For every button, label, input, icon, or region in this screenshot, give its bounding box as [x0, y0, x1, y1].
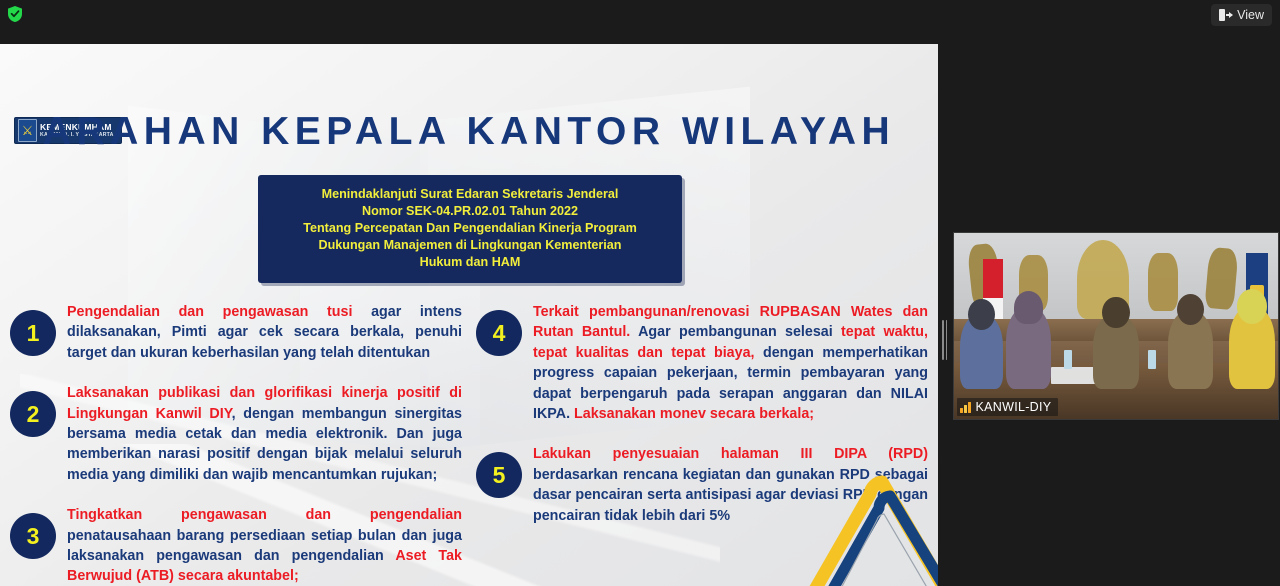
numbered-point: 2Laksanakan publikasi dan glorifikasi ki…: [10, 383, 462, 485]
water-bottle: [1148, 350, 1156, 369]
notice-box: Menindaklanjuti Surat Edaran Sekretaris …: [258, 175, 682, 283]
participant-person: [1168, 311, 1213, 389]
point-number-badge: 1: [10, 310, 56, 356]
highlighted-text: Lakukan penyesuaian halaman III DIPA (RP…: [533, 446, 928, 462]
point-number-badge: 4: [476, 310, 522, 356]
participant-person: [1006, 307, 1051, 389]
highlighted-text: Pengendalian dan pengawasan tusi: [67, 304, 371, 320]
panel-divider[interactable]: [938, 44, 952, 586]
slide-title: ARAHAN KEPALA KANTOR WILAYAH: [0, 110, 938, 154]
meeting-top-bar: View: [0, 0, 1280, 44]
notice-line: Nomor SEK-04.PR.02.01 Tahun 2022: [268, 203, 672, 220]
notice-line: Hukum dan HAM: [268, 254, 672, 271]
drag-handle[interactable]: [941, 320, 948, 360]
water-bottle: [1064, 350, 1072, 369]
view-button-label: View: [1237, 8, 1264, 22]
presentation-slide: ⚔ KEMENKUMHAM KANWIL D. I. YOGYAKARTA AR…: [0, 44, 938, 586]
participant-person: [960, 315, 1002, 389]
highlighted-text: Tingkatkan pengawasan dan pengendalian: [67, 507, 462, 523]
participant-person: [1229, 307, 1274, 389]
highlighted-text: Laksanakan monev secara berkala;: [574, 406, 814, 422]
numbered-point: 1Pengendalian dan pengawasan tusi agar i…: [10, 302, 462, 363]
video-feed: [954, 233, 1278, 419]
participant-video-tile[interactable]: KANWIL-DIY: [953, 232, 1279, 420]
wayang-decor: [1148, 253, 1177, 311]
point-text: Pengendalian dan pengawasan tusi agar in…: [67, 302, 462, 363]
point-text: Tingkatkan pengawasan dan pengendalian p…: [67, 505, 462, 586]
participant-name-badge: KANWIL-DIY: [957, 398, 1058, 416]
points-column-left: 1Pengendalian dan pengawasan tusi agar i…: [10, 302, 462, 586]
view-button[interactable]: View: [1211, 4, 1272, 26]
notice-line: Menindaklanjuti Surat Edaran Sekretaris …: [268, 186, 672, 203]
triangle-swoosh-graphic: [804, 470, 938, 586]
layout-panel-icon: [1219, 9, 1232, 21]
point-number-badge: 3: [10, 513, 56, 559]
notice-line: Dukungan Manajemen di Lingkungan Kemente…: [268, 237, 672, 254]
normal-text: Agar pembangunan selesai: [638, 324, 841, 340]
point-number-badge: 2: [10, 391, 56, 437]
point-number-badge: 5: [476, 452, 522, 498]
shared-screen-stage[interactable]: ⚔ KEMENKUMHAM KANWIL D. I. YOGYAKARTA AR…: [0, 44, 938, 586]
numbered-point: 3Tingkatkan pengawasan dan pengendalian …: [10, 505, 462, 586]
meeting-window: View ⚔ KEMENKUMHAM KANWIL D. I. YOGYAKAR…: [0, 0, 1280, 586]
shield-check-icon: [4, 2, 26, 26]
numbered-point: 4Terkait pembangunan/renovasi RUPBASAN W…: [476, 302, 928, 424]
point-text: Laksanakan publikasi dan glorifikasi kin…: [67, 383, 462, 485]
participant-name: KANWIL-DIY: [976, 400, 1052, 414]
point-text: Terkait pembangunan/renovasi RUPBASAN Wa…: [533, 302, 928, 424]
notice-line: Tentang Percepatan Dan Pengendalian Kine…: [268, 220, 672, 237]
participant-person: [1093, 315, 1138, 389]
audio-level-bars-icon: [960, 402, 971, 413]
